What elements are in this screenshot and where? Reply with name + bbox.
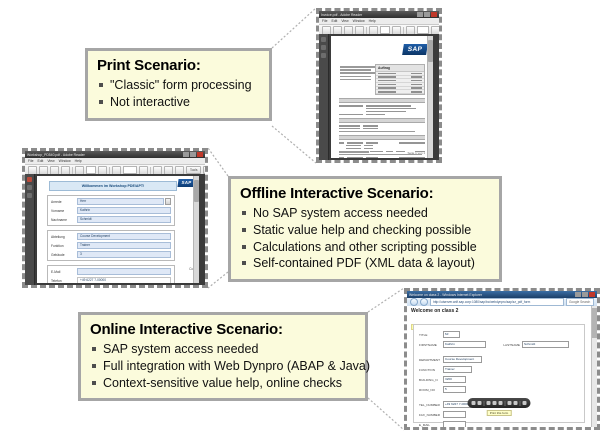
minimize-icon[interactable] [183, 152, 189, 157]
toolbar-separator [72, 167, 73, 174]
callout-bullet: "Classic" form processing [97, 77, 260, 94]
callout-print-scenario: Print Scenario: "Classic" form processin… [85, 48, 272, 121]
callout-bullet: Not interactive [97, 94, 260, 111]
toolbar-tooltip: Print this form [487, 410, 512, 416]
window-controls[interactable] [183, 152, 203, 157]
callout-bullet: SAP system access needed [90, 341, 356, 358]
menu-view[interactable]: View [47, 159, 54, 163]
scrollbar-thumb[interactable] [194, 180, 199, 202]
field-input-nachname[interactable]: Schmidt [77, 216, 171, 223]
field-label-funktion: Funktion [51, 244, 77, 248]
zoom-level-input[interactable] [417, 26, 429, 34]
callout-bullet: No SAP system access needed [240, 205, 490, 222]
scrollbar-thumb[interactable] [592, 308, 597, 338]
callout-online-scenario: Online Interactive Scenario: SAP system … [78, 312, 368, 401]
callout-title: Offline Interactive Scenario: [240, 185, 490, 202]
next-page-icon[interactable] [499, 401, 503, 405]
field-input-vorname[interactable]: Kathrin [77, 207, 171, 214]
address-line [340, 79, 371, 81]
callout-bullet-list: SAP system access needed Full integratio… [90, 341, 356, 391]
field-input-telefon[interactable]: +49 6227 7-00000 [77, 277, 171, 283]
vertical-scrollbar[interactable] [427, 36, 433, 158]
field-input-function[interactable]: Trainer [443, 366, 472, 373]
previous-page-icon[interactable] [487, 401, 491, 405]
tools-pane-button[interactable]: Tools [186, 166, 201, 174]
window-controls[interactable] [575, 292, 595, 297]
page-number-field[interactable] [493, 401, 497, 405]
toolbar-separator-2 [109, 167, 110, 174]
menu-window[interactable]: Window [353, 19, 365, 23]
close-icon[interactable] [431, 12, 437, 17]
field-label-gebaeude: Gebäude [51, 253, 77, 257]
form-row[interactable]: TITLE Mr [419, 331, 579, 338]
field-label-email: E-Mail [51, 270, 77, 274]
bookmarks-icon[interactable] [27, 185, 32, 190]
field-input-title[interactable]: Mr [443, 331, 460, 338]
field-input-fax[interactable] [443, 411, 466, 418]
attachments-icon[interactable] [321, 53, 326, 58]
web-dynpro-interactive-form[interactable]: TITLE Mr FIRSTNAME Kathrin LASTNAME Schm… [413, 324, 585, 423]
navigation-rail[interactable] [319, 34, 329, 160]
form-row[interactable]: E_MAIL [419, 421, 579, 427]
invoice-line-items-table [339, 135, 425, 150]
menu-help[interactable]: Help [369, 19, 376, 23]
field-label-firstname: FIRSTNAME [419, 343, 443, 347]
menu-edit[interactable]: Edit [37, 159, 43, 163]
form-row[interactable]: Abteilung Course Development [51, 233, 171, 240]
menubar[interactable]: File Edit View Window Help [319, 18, 439, 25]
field-input-email[interactable] [77, 268, 171, 275]
window-controls[interactable] [417, 12, 437, 17]
callout-offline-scenario: Offline Interactive Scenario: No SAP sys… [228, 176, 502, 282]
field-label-room: ROOM_NO [419, 388, 443, 392]
callout-bullet: Calculations and other scripting possibl… [240, 239, 490, 256]
reader-body: SAP Auftrag [319, 34, 439, 160]
print-icon[interactable] [478, 401, 482, 405]
vertical-scrollbar[interactable] [591, 306, 597, 427]
window-titlebar: Welcome on class 2 - Windows Internet Ex… [407, 291, 597, 298]
field-label-vorname: Vorname [51, 209, 77, 213]
minimize-icon[interactable] [417, 12, 423, 17]
invoice-section-totals [339, 118, 425, 134]
menu-window[interactable]: Window [59, 159, 71, 163]
field-label-anrede: Anrede [51, 200, 77, 204]
form-row[interactable]: Anrede Herr [51, 198, 171, 205]
scrollbar-thumb[interactable] [428, 40, 433, 62]
back-icon[interactable] [410, 298, 418, 306]
form-row[interactable]: Telefon +49 6227 7-00000 [51, 277, 171, 283]
form-row[interactable]: BUILDING_N 3200 [419, 376, 579, 383]
vertical-scrollbar[interactable] [193, 176, 199, 283]
field-input-firstname[interactable]: Kathrin [443, 341, 486, 348]
menu-view[interactable]: View [341, 19, 348, 23]
form-group-location: Location Abteilung Course Development Fu… [47, 230, 175, 261]
callout-bullet-list: No SAP system access needed Static value… [240, 205, 490, 272]
page-thumbnails-icon[interactable] [321, 37, 326, 42]
field-label-fax: FAX_NUMBER [419, 413, 443, 417]
document-footer: Seite 1 von 1 [339, 151, 425, 155]
online-scenario-screenshot[interactable]: Welcome on class 2 - Windows Internet Ex… [404, 288, 600, 430]
callout-bullet: Self-contained PDF (XML data & layout) [240, 255, 490, 272]
forward-icon[interactable] [420, 298, 428, 306]
menu-edit[interactable]: Edit [331, 19, 337, 23]
page-heading: Welcome on class 2 [411, 308, 597, 314]
comment-pane-button[interactable]: Comment [203, 166, 205, 174]
attachments-icon[interactable] [27, 193, 32, 198]
menu-file[interactable]: File [322, 19, 327, 23]
field-input-email[interactable] [443, 421, 466, 427]
form-banner: Willkommen im Workshop PDE/APT! [49, 181, 177, 191]
toolbar-separator-3 [520, 401, 521, 406]
form-row[interactable]: FIRSTNAME Kathrin LASTNAME Schmidt [419, 341, 579, 348]
field-label-telefon: Telefon [51, 279, 77, 283]
address-line [340, 76, 371, 78]
callout-title: Online Interactive Scenario: [90, 321, 356, 338]
slide-canvas: Invoice.pdf - Adobe Reader File Edit Vie… [0, 0, 602, 436]
callout-bullet-list: "Classic" form processing Not interactiv… [97, 77, 260, 110]
toolbar-separator [484, 401, 485, 406]
field-label-lastname: LASTNAME [498, 343, 522, 347]
toolbar-separator-2 [505, 401, 506, 406]
close-icon[interactable] [197, 152, 203, 157]
window-title: Invoice.pdf - Adobe Reader [321, 13, 362, 17]
maximize-icon[interactable] [582, 292, 588, 297]
pdf-floating-toolbar[interactable] [468, 398, 531, 408]
menu-file[interactable]: File [28, 159, 33, 163]
bookmarks-icon[interactable] [321, 45, 326, 50]
address-line [340, 69, 371, 71]
table-header-band [339, 135, 425, 140]
section-header-band [339, 98, 425, 103]
form-group-communication: Communication E-Mail Telefon +49 6227 7-… [47, 265, 175, 283]
field-label-building: BUILDING_N [419, 378, 443, 382]
line-item-group [339, 157, 425, 158]
field-input-lastname[interactable]: Schmidt [522, 341, 569, 348]
order-box-row [376, 90, 424, 94]
form-row[interactable]: Funktion Trainer [51, 242, 171, 249]
offline-scenario-screenshot[interactable]: Workshop_PD540.pdf - Adobe Reader File E… [22, 148, 208, 288]
form-row[interactable]: DEPARTMENT Course Development [419, 356, 579, 363]
minimize-icon[interactable] [575, 292, 581, 297]
field-input-anrede[interactable]: Herr [77, 198, 164, 205]
page-indicator: Seite 1 von 1 [407, 151, 425, 155]
page-thumbnails-icon[interactable] [27, 177, 32, 182]
window-titlebar: Workshop_PD540.pdf - Adobe Reader [25, 151, 205, 158]
form-row[interactable]: Gebäude 3 [51, 251, 171, 258]
field-input-gebaeude[interactable]: 3 [77, 251, 171, 258]
field-input-building[interactable]: 3200 [443, 376, 466, 383]
zoom-in-icon[interactable] [514, 401, 518, 405]
pdf-page: SAP Willkommen im Workshop PDE/APT! Name… [37, 176, 199, 283]
section-header-band-2 [339, 118, 425, 123]
interactive-pdf-form[interactable]: SAP Willkommen im Workshop PDE/APT! Name… [37, 176, 199, 283]
callout-bullet: Static value help and checking possible [240, 222, 490, 239]
pdf-page: SAP Auftrag [331, 36, 433, 158]
search-input[interactable]: Google Search [566, 298, 594, 306]
toolbar-right-group[interactable]: Tools Comment Share [186, 166, 205, 174]
help-icon[interactable] [523, 401, 527, 405]
page-number-input[interactable] [380, 26, 390, 34]
callout-bullet: Full integration with Web Dynpro (ABAP &… [90, 358, 356, 375]
maximize-icon[interactable] [190, 152, 196, 157]
address-input[interactable]: http://uiserver.wdf.sap.corp:1080/sap/bc… [430, 298, 564, 306]
web-page-content: Welcome on class 2 Fill fields for the f… [407, 306, 597, 427]
page-number-input[interactable] [86, 166, 96, 174]
maximize-icon[interactable] [424, 12, 430, 17]
callout-title: Print Scenario: [97, 57, 260, 74]
form-row[interactable]: Vorname Kathrin [51, 207, 171, 214]
invoice-document: SAP Auftrag [331, 36, 433, 158]
window-title: Workshop_PD540.pdf - Adobe Reader [27, 153, 85, 157]
field-input-room[interactable]: 5 [443, 386, 466, 393]
field-label-department: DEPARTMENT [419, 358, 443, 362]
field-label-abteilung: Abteilung [51, 235, 77, 239]
form-row[interactable]: FUNCTION Trainer [419, 366, 579, 373]
menubar[interactable]: File Edit View Window Help [25, 158, 205, 165]
menu-help[interactable]: Help [75, 159, 82, 163]
window-titlebar: Invoice.pdf - Adobe Reader [319, 11, 439, 18]
field-label-tel: TEL_NUMBER [419, 403, 443, 407]
window-title: Welcome on class 2 - Windows Internet Ex… [409, 293, 482, 297]
close-icon[interactable] [589, 292, 595, 297]
zoom-level-input[interactable] [123, 166, 137, 174]
sap-logo: SAP [402, 44, 428, 55]
form-row[interactable]: Nachname Schmidt [51, 216, 171, 223]
field-input-abteilung[interactable]: Course Development [77, 233, 171, 240]
field-input-department[interactable]: Course Development [443, 356, 482, 363]
invoice-section-conditions [339, 98, 425, 117]
callout-bullet: Context-sensitive value help, online che… [90, 375, 356, 392]
toolbar-separator-3 [150, 167, 151, 174]
navigation-rail[interactable] [25, 174, 35, 285]
chevron-down-icon[interactable] [165, 198, 171, 205]
field-label-function: FUNCTION [419, 368, 443, 372]
order-box-title: Auftrag [376, 65, 424, 72]
zoom-out-icon[interactable] [508, 401, 512, 405]
field-label-email: E_MAIL [419, 423, 443, 427]
field-label-title: TITLE [419, 333, 443, 337]
save-icon[interactable] [472, 401, 476, 405]
toolbar-separator-2 [403, 27, 404, 34]
form-row[interactable]: ROOM_NO 5 [419, 386, 579, 393]
field-input-funktion[interactable]: Trainer [77, 242, 171, 249]
form-row[interactable]: E-Mail [51, 268, 171, 275]
print-scenario-screenshot[interactable]: Invoice.pdf - Adobe Reader File Edit Vie… [316, 8, 442, 163]
order-summary-box: Auftrag [375, 64, 425, 95]
field-label-nachname: Nachname [51, 218, 77, 222]
toolbar-separator [366, 27, 367, 34]
reader-body: SAP Willkommen im Workshop PDE/APT! Name… [25, 174, 205, 285]
form-group-name: Name Anrede Herr Vorname Kathrin [47, 195, 175, 226]
